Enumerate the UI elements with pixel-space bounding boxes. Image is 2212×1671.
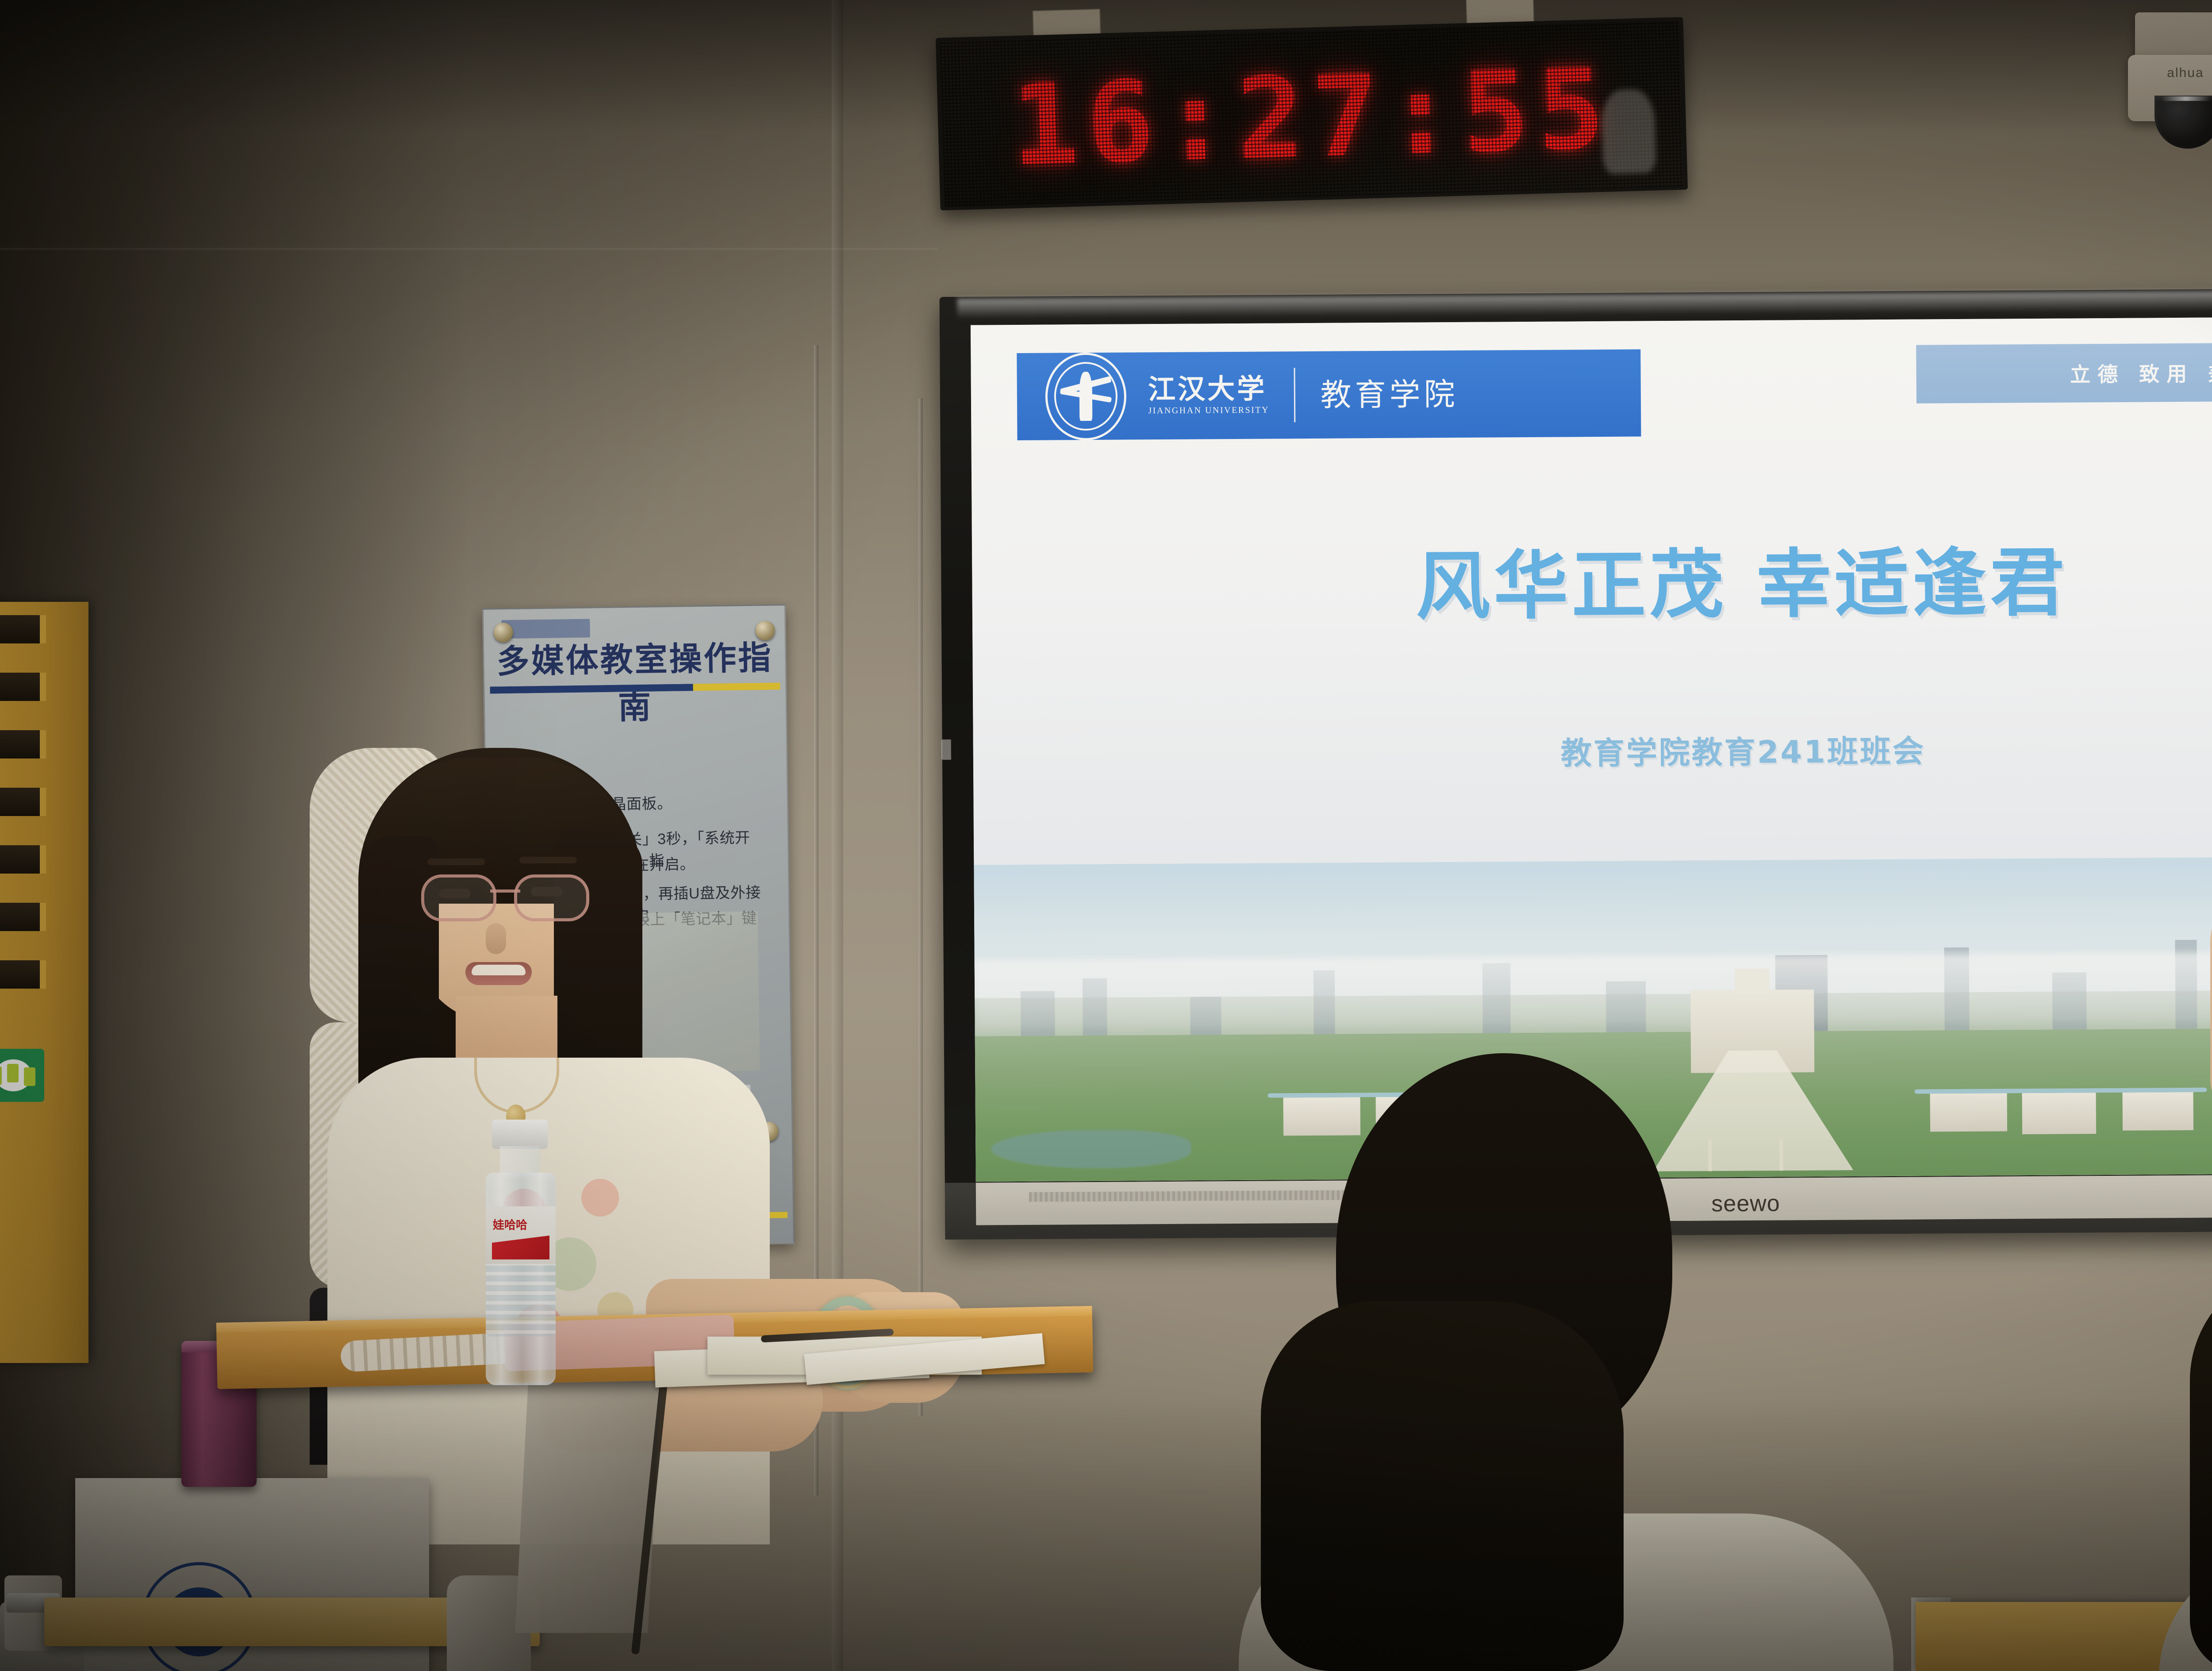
university-seal-icon <box>1045 352 1126 440</box>
teacher-glasses <box>421 874 589 917</box>
teacher-nose <box>486 923 506 954</box>
display-screen[interactable]: 江汉大学 JIANGHAN UNIVERSITY 教育学院 立德 致用 兼容 创… <box>971 316 2212 1182</box>
clock-reflection-smudge <box>1601 89 1656 174</box>
student-presenter <box>2168 549 2212 1239</box>
university-name-cn: 江汉大学 <box>1148 375 1269 404</box>
slide-motto-bar: 立德 致用 兼容 创新 <box>1916 342 2212 404</box>
slide-subtitle: 教育学院教育241班班会 <box>973 723 2212 777</box>
logo-divider <box>1294 368 1296 422</box>
bottle-label: 娃哈哈 <box>486 1206 556 1264</box>
slide-motto-text: 立德 致用 兼容 创新 <box>2070 357 2212 388</box>
slide-logo-bar: 江汉大学 JIANGHAN UNIVERSITY 教育学院 <box>1017 349 1641 440</box>
wall-seam <box>0 248 938 250</box>
slide-title: 风华正茂 幸适逢君 <box>972 543 2212 626</box>
camera-dome-lens <box>2154 96 2212 149</box>
bottle-brand-label: 娃哈哈 <box>493 1216 527 1232</box>
yellow-wall-cabinet <box>0 602 88 1363</box>
clock-time-display: 16:27:55 <box>937 51 1687 184</box>
floor-shadow <box>0 1397 2212 1671</box>
poster-header: 多媒体教室操作指南 <box>484 605 786 742</box>
bottle-ribs <box>486 1252 556 1336</box>
university-name-en: JIANGHAN UNIVERSITY <box>1148 405 1269 416</box>
poster-title: 多媒体教室操作指南 <box>484 631 786 730</box>
university-name-block: 江汉大学 JIANGHAN UNIVERSITY <box>1148 375 1269 416</box>
presenter-arm-left <box>2210 885 2212 1115</box>
bottle-cap <box>492 1120 548 1149</box>
water-bottle: 娃哈哈 <box>482 1120 560 1385</box>
led-wall-clock: 16:27:55 <box>936 17 1688 210</box>
camera-brand-label: alhua <box>2119 65 2212 81</box>
security-camera-icon: alhua <box>2119 12 2212 158</box>
presentation-slide: 江汉大学 JIANGHAN UNIVERSITY 教育学院 立德 致用 兼容 创… <box>971 316 2212 1182</box>
teacher-teeth <box>472 965 526 975</box>
recycling-sticker <box>0 1049 44 1102</box>
teacher-brow-right <box>519 857 577 863</box>
teacher-brow-left <box>427 859 485 865</box>
camera-highlight <box>2162 96 2210 101</box>
college-name: 教育学院 <box>1320 379 1458 411</box>
classroom-photo-scene: 16:27:55 alhua 多媒体教室操作指南 上课： 1、点击唤醒液晶面板。… <box>0 0 2212 1671</box>
